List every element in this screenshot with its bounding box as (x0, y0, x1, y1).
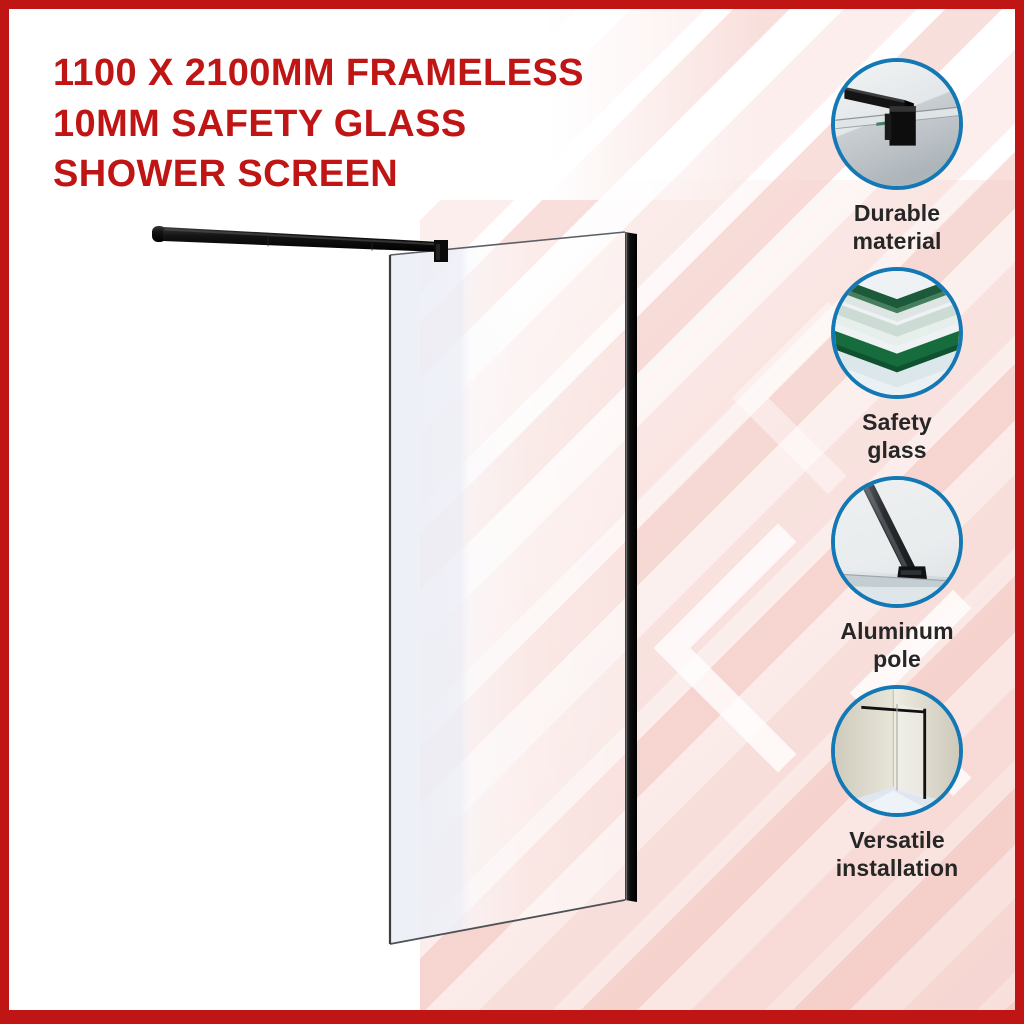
glass-panel (390, 232, 625, 944)
vertical-black-profile (625, 232, 637, 902)
frame-border-right (1015, 0, 1024, 1024)
glass-clamp-bracket (434, 240, 448, 262)
title-line-3: Shower Screen (53, 149, 673, 200)
glass-clamp-bracket-photo-icon (831, 58, 963, 190)
feature-label: Durable material (786, 199, 1008, 255)
feature-label-line-1: Safety (786, 408, 1008, 436)
feature-label-line-2: glass (786, 436, 1008, 464)
title-line-2: 10mm Safety Glass (53, 99, 673, 150)
feature-label-line-1: Versatile (786, 826, 1008, 854)
feature-label-line-2: pole (786, 645, 1008, 673)
aluminum-support-pole-photo-icon (831, 476, 963, 608)
feature-label-line-1: Aluminum (786, 617, 1008, 645)
title-line-1: 1100 x 2100mm Frameless (53, 48, 673, 99)
feature-label-line-2: material (786, 227, 1008, 255)
feature-aluminum-pole: Aluminum pole (786, 476, 1008, 673)
feature-label: Safety glass (786, 408, 1008, 464)
feature-label: Versatile installation (786, 826, 1008, 882)
feature-label: Aluminum pole (786, 617, 1008, 673)
feature-versatile-installation: Versatile installation (786, 685, 1008, 882)
feature-safety-glass: Safety glass (786, 267, 1008, 464)
shower-enclosure-room-photo-icon (831, 685, 963, 817)
product-poster: 1100 x 2100mm Frameless 10mm Safety Glas… (0, 0, 1024, 1024)
feature-label-line-2: installation (786, 854, 1008, 882)
support-bar (152, 226, 440, 252)
laminated-safety-glass-layers-icon (831, 267, 963, 399)
frame-border-top (0, 0, 1024, 9)
feature-durable-material: Durable material (786, 58, 1008, 255)
frame-border-bottom (0, 1010, 1024, 1024)
page-title: 1100 x 2100mm Frameless 10mm Safety Glas… (53, 48, 673, 200)
feature-label-line-1: Durable (786, 199, 1008, 227)
feature-list: Durable material (786, 58, 1008, 882)
frame-border-left (0, 0, 9, 1024)
